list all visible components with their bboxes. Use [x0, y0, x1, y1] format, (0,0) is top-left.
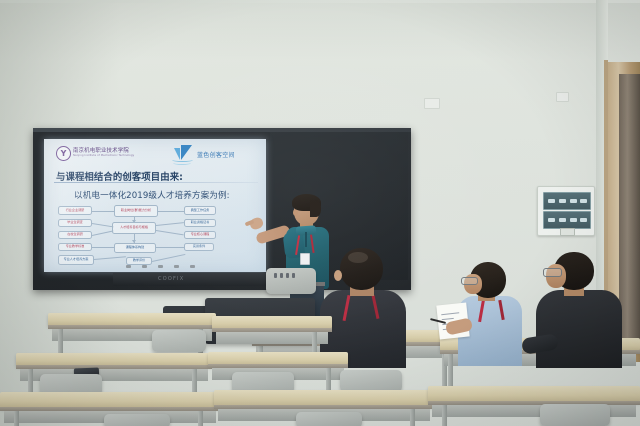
wall-sensor-icon: [424, 98, 440, 109]
projection-screen: Y 南京机电职业技术学院 Nanjing Institute of Mechat…: [44, 139, 266, 272]
diagram-node: 典型工作任务: [184, 206, 216, 215]
diagram-node: 实训条件: [184, 243, 214, 251]
diagram-node: 专业核心课程: [184, 231, 216, 239]
chair-gray[interactable]: [152, 330, 206, 352]
makerspace-name-cn: 蓝色创客空间: [197, 150, 235, 159]
classroom-photo: Y 南京机电职业技术学院 Nanjing Institute of Mechat…: [0, 0, 640, 426]
presenter-hair-side: [310, 200, 321, 217]
attendee-right: [538, 252, 634, 372]
display-brand-label: COOFIX: [158, 276, 184, 282]
institute-badge-icon: Y: [56, 146, 71, 161]
diagram-node: 毕业生调查: [58, 219, 92, 227]
sailboat-icon: [172, 144, 194, 164]
electrical-breaker-panel[interactable]: [537, 186, 595, 236]
diagram-node: 行业企业调研: [58, 206, 92, 215]
attendee-ear: [334, 270, 342, 281]
eyeglasses-icon: [461, 277, 478, 285]
display-button-row[interactable]: [126, 265, 195, 268]
diagram-node: 专业教学标准: [58, 243, 92, 251]
diagram-node: 课程体系构建: [114, 243, 156, 253]
slide-diagram: 行业企业调研 职业岗位(群)能力分析 典型工作任务 毕业生调查 人才培养目标与规…: [52, 205, 258, 269]
ceiling-edge: [0, 0, 640, 3]
wall-sensor-secondary-icon: [556, 92, 569, 102]
breaker-row-top: [543, 192, 591, 210]
presenter-placket: [305, 232, 307, 247]
slide-title: 与课程相结合的创客项目由来:: [56, 169, 256, 183]
diagram-node: 教学评价: [126, 257, 152, 265]
institute-logo: Y 南京机电职业技术学院 Nanjing Institute of Mechat…: [56, 146, 134, 161]
diagram-node: 职业岗位(群)能力分析: [114, 205, 158, 217]
breaker-row-bottom: [543, 211, 591, 229]
slide-title-rule: [54, 182, 258, 183]
chair-gray[interactable]: [540, 404, 610, 426]
display-button[interactable]: [190, 265, 195, 268]
eyeglasses-icon: [543, 268, 562, 277]
chair-gray[interactable]: [104, 414, 170, 426]
display-button[interactable]: [142, 265, 147, 268]
attendee-hair-highlight: [348, 252, 368, 263]
display-button[interactable]: [158, 265, 163, 268]
chair-back-rest[interactable]: [266, 268, 316, 294]
institute-name-en: Nanjing Institute of Mechatronic Technol…: [73, 155, 134, 158]
attendee-taking-notes: [452, 258, 536, 370]
display-button[interactable]: [174, 265, 179, 268]
display-button[interactable]: [126, 265, 131, 268]
chair-gray[interactable]: [340, 370, 402, 392]
desk-row-2-right: [212, 316, 332, 346]
diagram-node: 在校生调研: [58, 231, 92, 239]
slide-logo-row: Y 南京机电职业技术学院 Nanjing Institute of Mechat…: [44, 144, 266, 166]
attendee-torso: [536, 290, 622, 368]
presenter-id-badge: [300, 253, 310, 265]
diagram-node: 人才培养目标与规格: [112, 222, 156, 234]
diagram-node: 职业资格证书: [184, 219, 216, 227]
diagram-node: 专业人才培养方案: [58, 255, 94, 265]
chair-gray[interactable]: [296, 412, 362, 426]
slide-subtitle: 以机电一体化2019级人才培养方案为例:: [74, 189, 264, 201]
panel-latch-icon[interactable]: [560, 228, 575, 236]
makerspace-logo: 蓝色创客空间: [172, 144, 235, 164]
